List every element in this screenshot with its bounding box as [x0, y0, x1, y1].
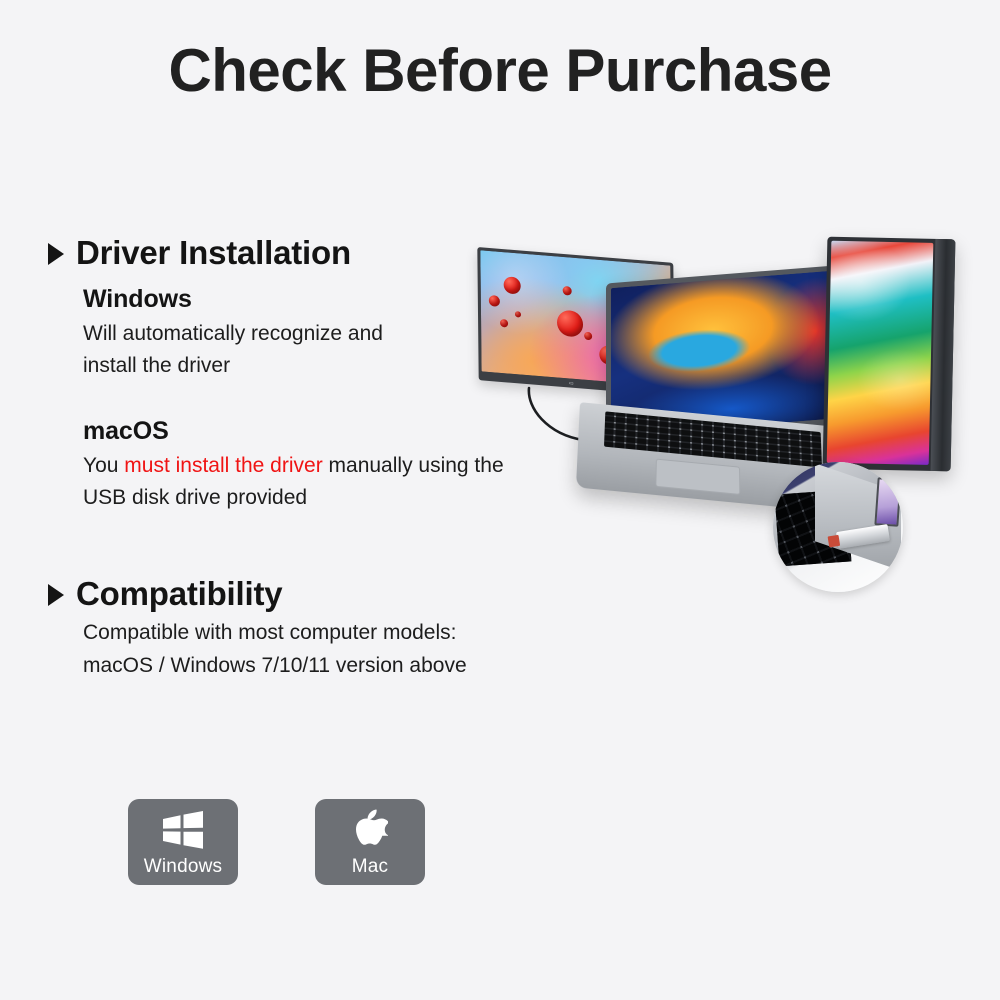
- right-monitor-edge: [931, 239, 956, 471]
- macos-line-1-suffix: manually using the: [323, 454, 504, 477]
- subsection-macos-line-2: USB disk drive provided: [83, 482, 668, 515]
- content-column: Driver Installation Windows Will automat…: [48, 236, 668, 683]
- macos-line-1-highlight: must install the driver: [124, 454, 322, 477]
- subsection-windows: Windows Will automatically recognize and…: [83, 285, 668, 383]
- os-badge-mac[interactable]: Mac: [315, 799, 425, 885]
- os-badge-mac-label: Mac: [352, 856, 389, 878]
- section-compatibility: Compatibility Compatible with most compu…: [48, 577, 668, 683]
- apple-logo-icon: [352, 810, 388, 850]
- subsection-macos: macOS You must install the driver manual…: [83, 417, 668, 515]
- usb-inset-mini-screen: [874, 477, 901, 527]
- os-badge-windows-label: Windows: [144, 856, 222, 878]
- triangle-right-icon: [48, 243, 64, 265]
- subsection-windows-heading: Windows: [83, 285, 668, 314]
- usb-drive-inset: [773, 462, 903, 592]
- os-badge-group: Windows Mac: [128, 799, 425, 885]
- subsection-windows-line-2: install the driver: [83, 350, 668, 383]
- subsection-windows-line-1: Will automatically recognize and: [83, 318, 668, 351]
- compatibility-body: Compatible with most computer models: ma…: [83, 617, 668, 682]
- section-compatibility-title: Compatibility: [76, 577, 282, 612]
- macos-line-1-prefix: You: [83, 454, 124, 477]
- section-driver-installation-header: Driver Installation: [48, 236, 668, 271]
- product-infographic-page: Check Before Purchase ▭: [0, 0, 1000, 1000]
- page-title: Check Before Purchase: [0, 36, 1000, 105]
- section-compatibility-header: Compatibility: [48, 577, 668, 612]
- section-driver-installation-title: Driver Installation: [76, 236, 351, 271]
- section-driver-installation: Driver Installation Windows Will automat…: [48, 236, 668, 515]
- compatibility-line-2: macOS / Windows 7/10/11 version above: [83, 650, 668, 683]
- windows-logo-icon: [161, 810, 205, 850]
- subsection-macos-heading: macOS: [83, 417, 668, 446]
- right-monitor: [823, 237, 956, 472]
- compatibility-line-1: Compatible with most computer models:: [83, 617, 668, 650]
- triangle-right-icon: [48, 584, 64, 606]
- subsection-macos-line-1: You must install the driver manually usi…: [83, 450, 668, 483]
- os-badge-windows[interactable]: Windows: [128, 799, 238, 885]
- laptop-trackpad: [655, 459, 740, 495]
- right-monitor-screen: [827, 241, 934, 465]
